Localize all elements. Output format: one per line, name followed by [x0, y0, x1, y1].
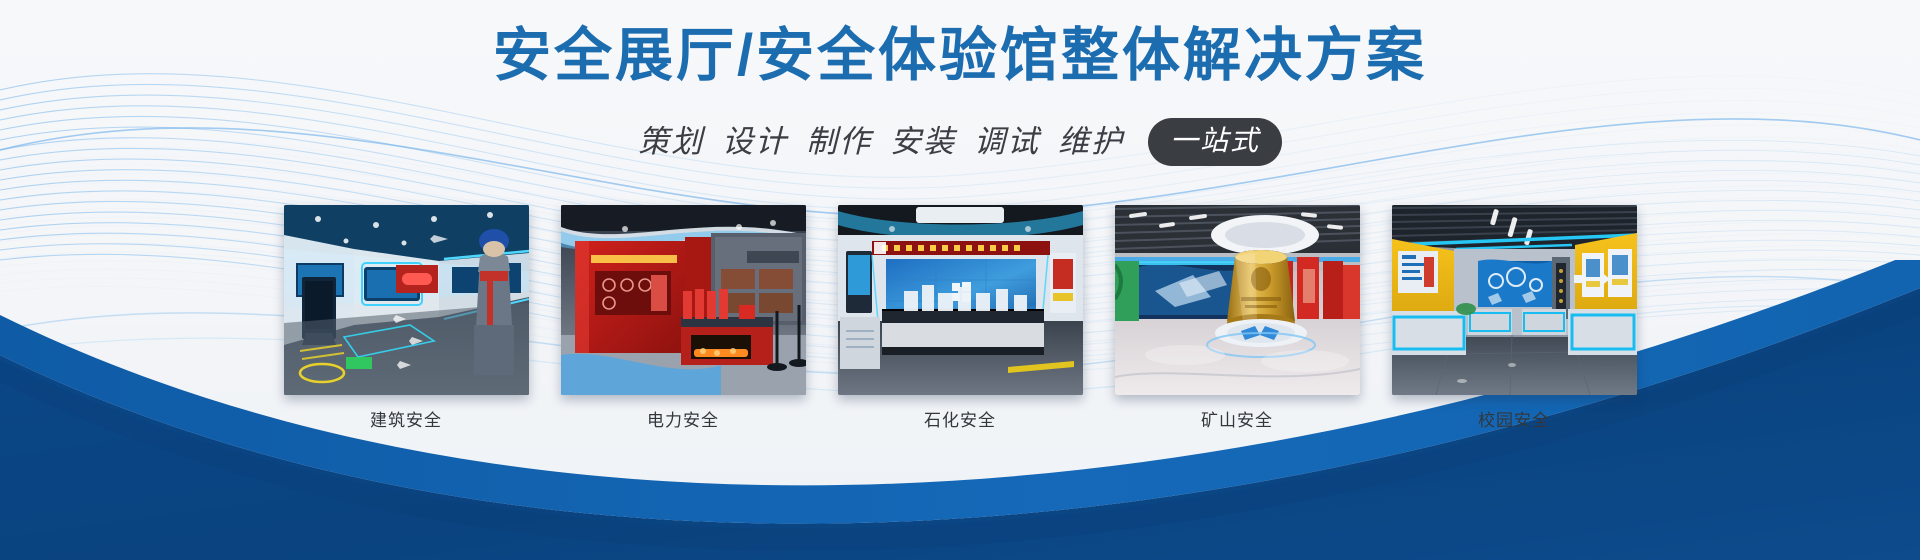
page-title: 安全展厅/安全体验馆整体解决方案 [0, 22, 1920, 90]
gallery-item-power[interactable]: 电力安全 [561, 205, 806, 433]
gallery-caption: 矿山安全 [1201, 409, 1273, 433]
service-step-production: 制作 [806, 122, 872, 162]
service-step-design: 设计 [722, 122, 788, 162]
power-safety-hall-photo[interactable] [561, 205, 806, 395]
gallery-item-campus[interactable]: 校园安全 [1392, 205, 1637, 433]
promotional-banner: 安全展厅/安全体验馆整体解决方案 策划 设计 制作 安装 调试 维护 一站式 [0, 0, 1920, 560]
petrochemical-safety-hall-photo[interactable] [838, 205, 1083, 395]
one-stop-badge: 一站式 [1148, 118, 1282, 166]
campus-safety-hall-photo[interactable] [1392, 205, 1637, 395]
gallery-caption: 校园安全 [1478, 409, 1550, 433]
gallery-item-petrochemical[interactable]: 石化安全 [838, 205, 1083, 433]
showcase-gallery: 建筑安全 [0, 205, 1920, 433]
gallery-item-construction[interactable]: 建筑安全 [284, 205, 529, 433]
gallery-caption: 建筑安全 [370, 409, 442, 433]
service-step-installation: 安装 [890, 122, 956, 162]
gallery-caption: 石化安全 [924, 409, 996, 433]
gallery-caption: 电力安全 [647, 409, 719, 433]
service-step-debugging: 调试 [974, 122, 1040, 162]
service-step-maintenance: 维护 [1058, 122, 1124, 162]
service-steps: 策划 设计 制作 安装 调试 维护 一站式 [0, 118, 1920, 166]
mining-safety-hall-photo[interactable] [1115, 205, 1360, 395]
gallery-item-mining[interactable]: 矿山安全 [1115, 205, 1360, 433]
service-step-planning: 策划 [638, 122, 704, 162]
construction-safety-hall-photo[interactable] [284, 205, 529, 395]
